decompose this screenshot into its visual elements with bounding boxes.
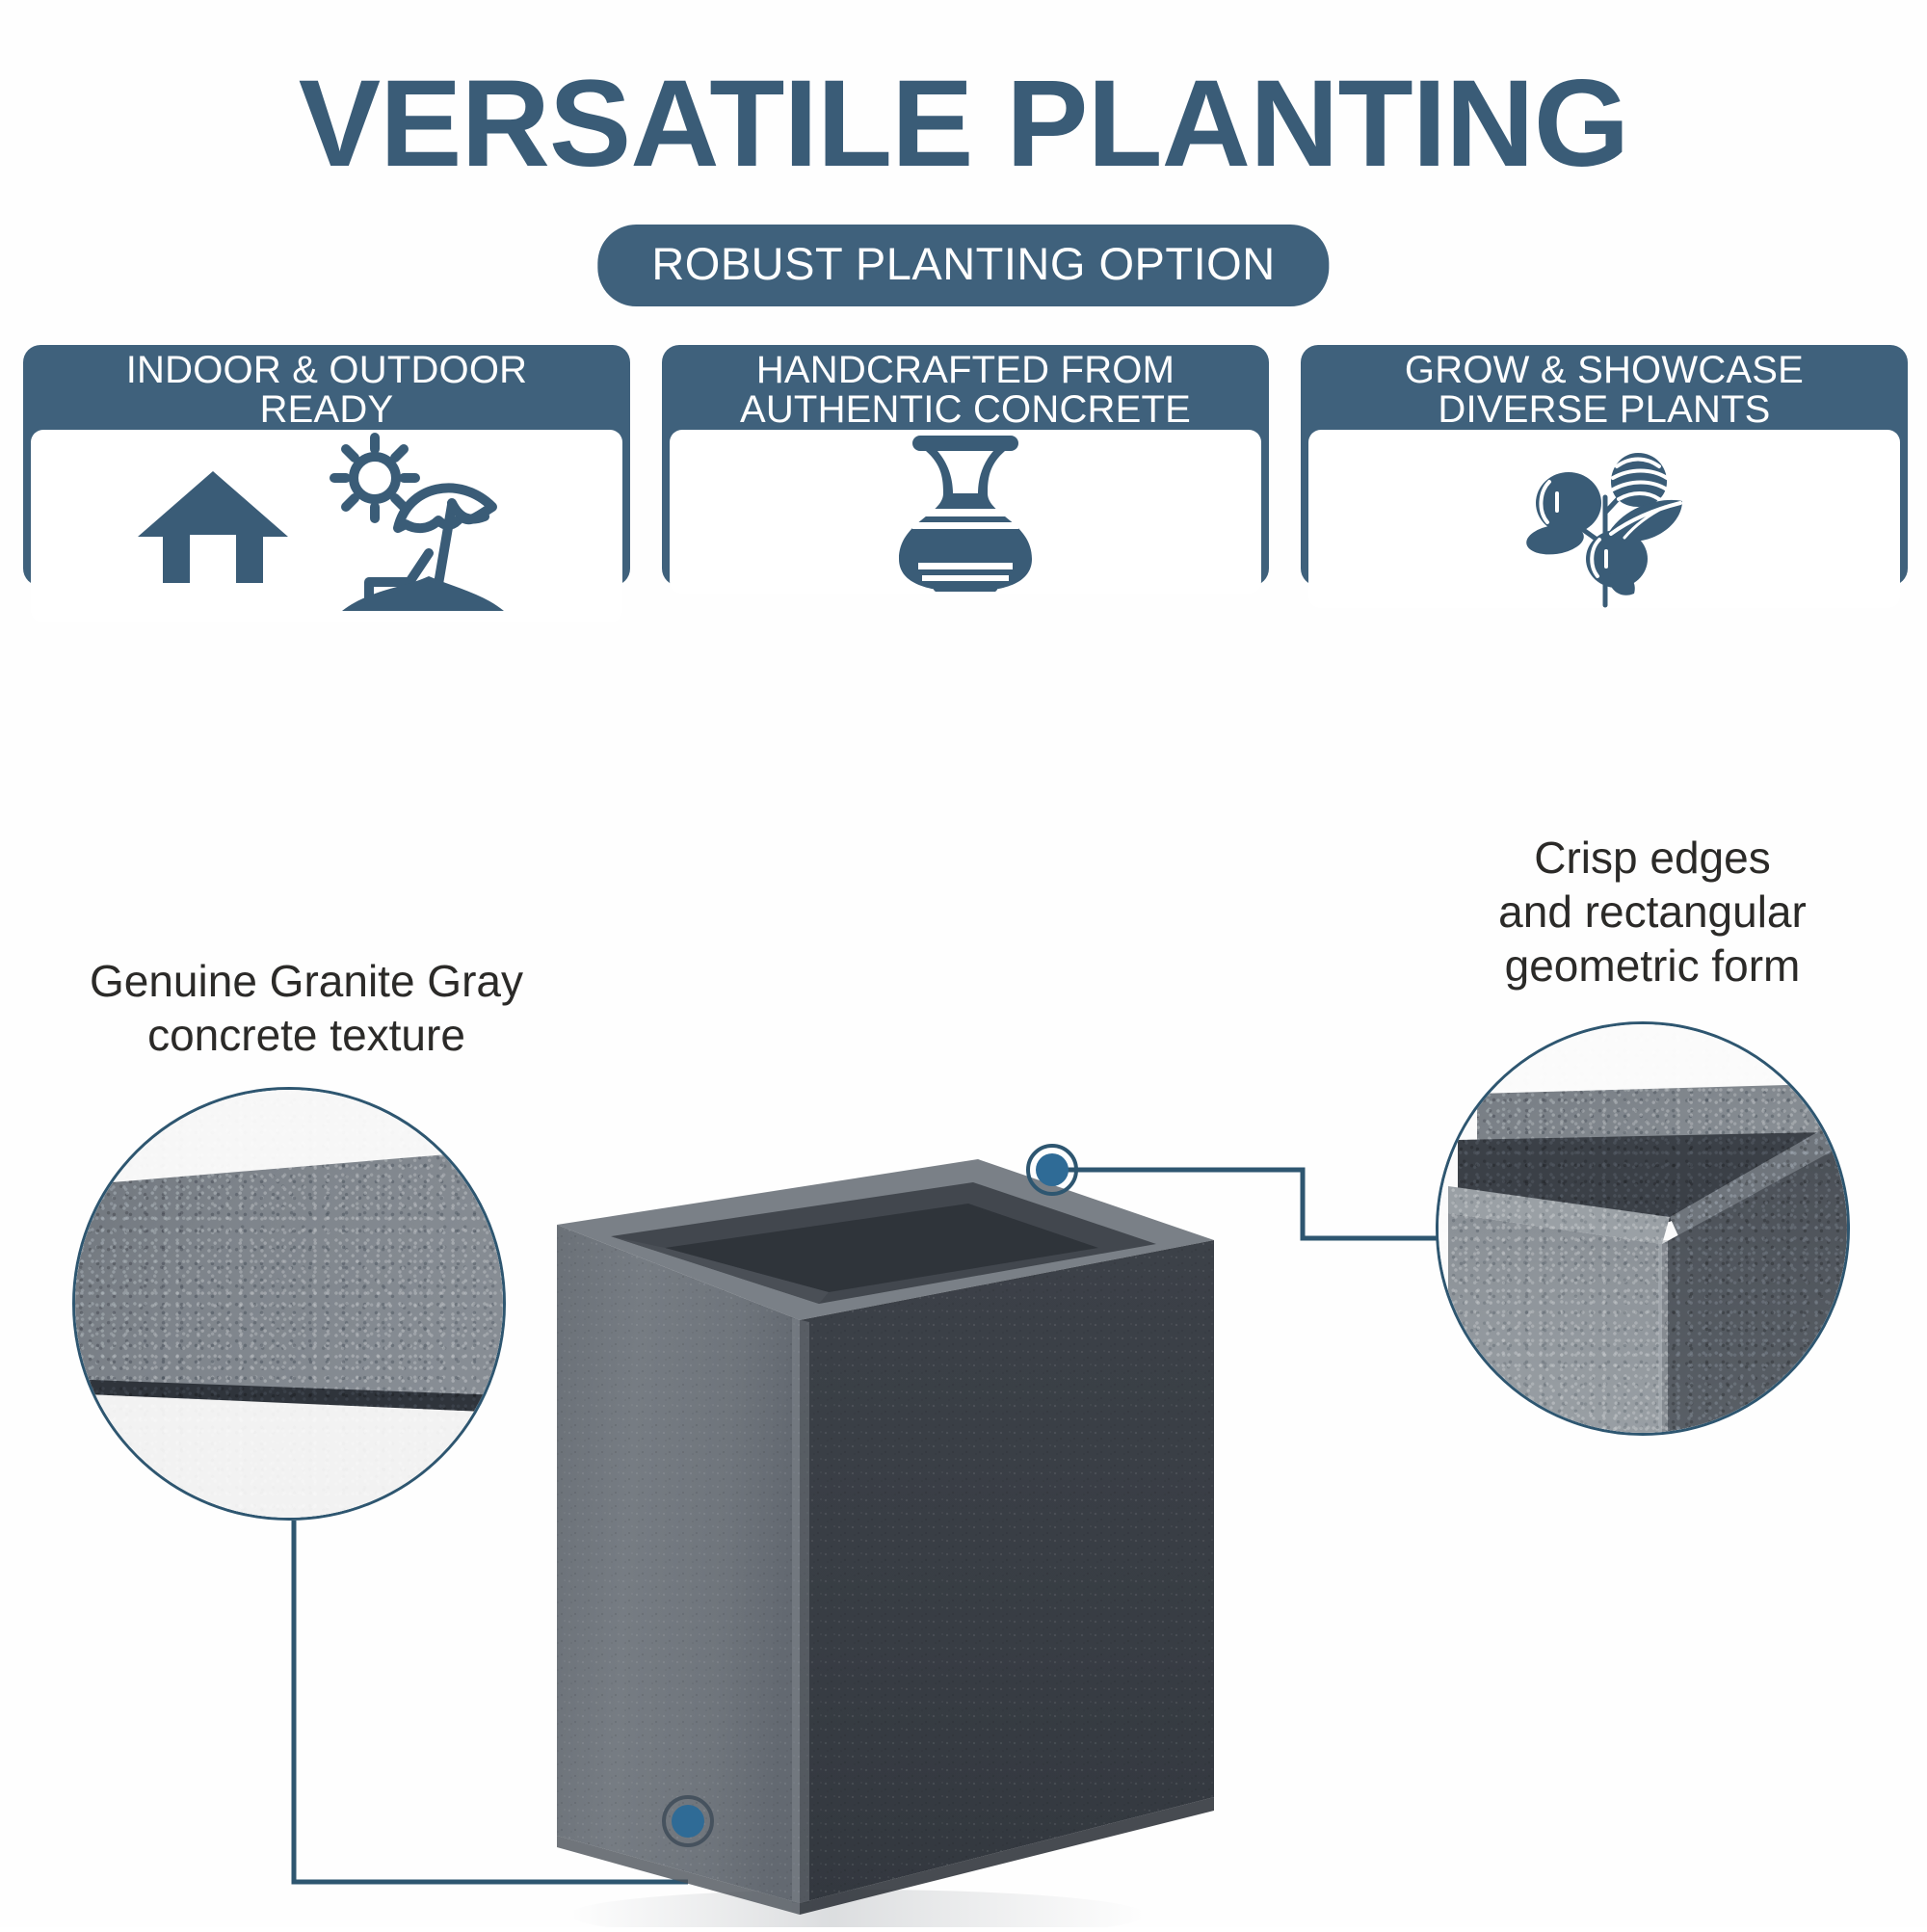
callout-rim-corner: [1436, 1021, 1850, 1436]
feature-card-title: INDOOR & OUTDOOR READY: [29, 351, 624, 428]
feature-card-authentic-concrete: HANDCRAFTED FROM AUTHENTIC CONCRETE: [662, 345, 1269, 586]
berry-sprig-icon: [1513, 430, 1696, 608]
concrete-grain-overlay: [75, 1090, 503, 1518]
subtitle-badge: ROBUST PLANTING OPTION: [597, 225, 1329, 306]
feature-card-title-line2: READY: [260, 388, 394, 431]
annotation-left-label: Genuine Granite Gray concrete texture: [17, 954, 595, 1062]
feature-card-title: GROW & SHOWCASE DIVERSE PLANTS: [1307, 351, 1902, 428]
annotation-right-line3: geometric form: [1505, 940, 1801, 991]
rim-grain-overlay: [1439, 1024, 1847, 1433]
annotation-left-line1: Genuine Granite Gray: [90, 956, 523, 1006]
product-photo-planter: [540, 1132, 1233, 1927]
feature-card-icons: [1308, 430, 1900, 608]
annotation-right-label: Crisp edges and rectangular geometric fo…: [1378, 831, 1927, 992]
vase-icon: [893, 430, 1038, 594]
feature-cards-row: INDOOR & OUTDOOR READY: [23, 345, 1908, 586]
callout-concrete-texture: [72, 1087, 506, 1521]
house-icon: [136, 463, 290, 589]
feature-card-icons: [670, 430, 1261, 594]
feature-card-title: HANDCRAFTED FROM AUTHENTIC CONCRETE: [668, 351, 1263, 428]
marker-dot-rim[interactable]: [1025, 1143, 1079, 1197]
feature-card-title-line1: HANDCRAFTED FROM: [756, 349, 1175, 391]
feature-card-diverse-plants: GROW & SHOWCASE DIVERSE PLANTS: [1301, 345, 1908, 586]
annotation-right-line1: Crisp edges: [1534, 833, 1770, 883]
feature-card-title-line1: INDOOR & OUTDOOR: [126, 349, 528, 391]
annotation-right-line2: and rectangular: [1498, 887, 1807, 937]
feature-card-icons: [31, 430, 622, 622]
marker-dot-body[interactable]: [661, 1794, 715, 1848]
feature-card-title-line2: DIVERSE PLANTS: [1438, 388, 1770, 431]
feature-card-title-line2: AUTHENTIC CONCRETE: [740, 388, 1191, 431]
feature-card-title-line1: GROW & SHOWCASE: [1405, 349, 1804, 391]
concrete-texture-image: [75, 1090, 503, 1518]
page-title: VERSATILE PLANTING: [0, 60, 1927, 189]
annotation-left-line2: concrete texture: [147, 1010, 465, 1060]
rim-corner-image: [1439, 1024, 1847, 1433]
beach-umbrella-icon: [315, 430, 517, 622]
feature-card-indoor-outdoor: INDOOR & OUTDOOR READY: [23, 345, 630, 586]
